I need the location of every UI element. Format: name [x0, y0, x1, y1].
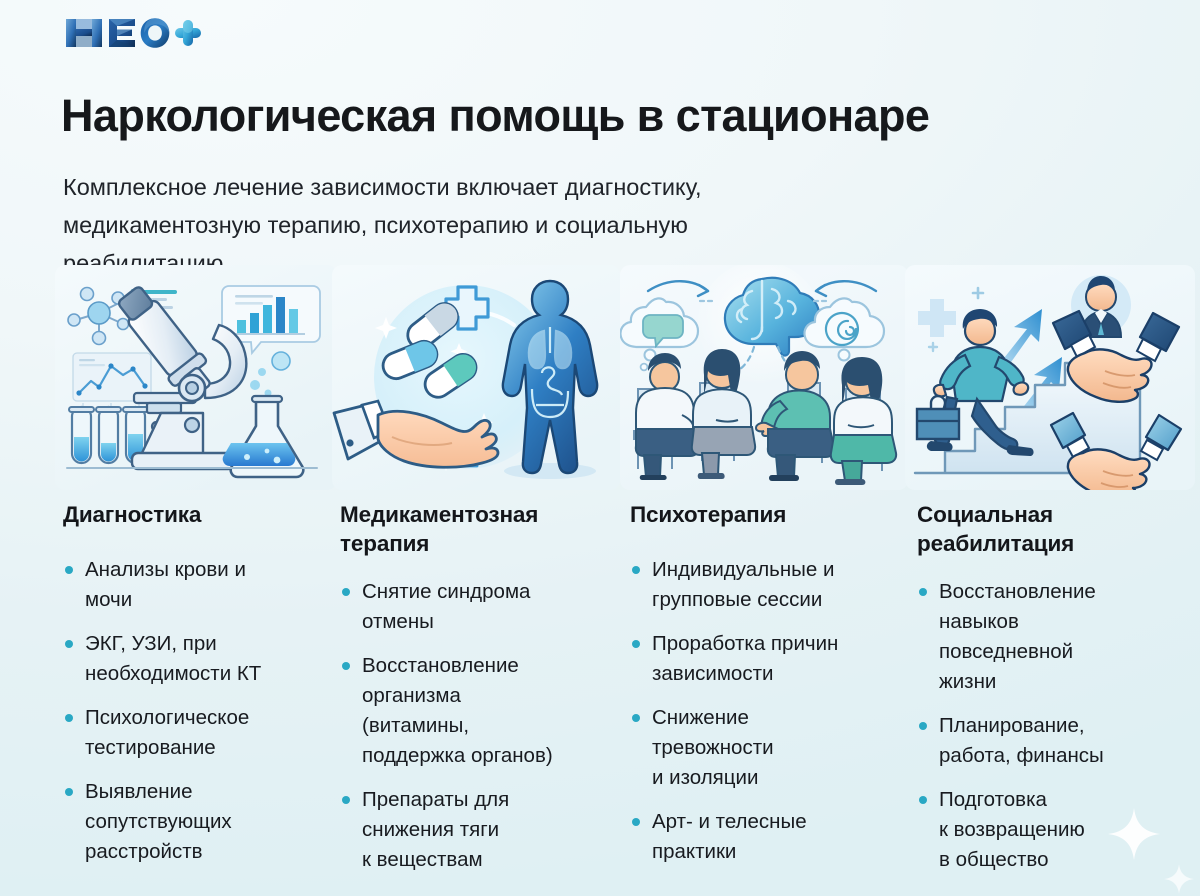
- list-item: Восстановление организма (витамины, подд…: [340, 651, 620, 771]
- list-item: Снижение тревожности и изоляции: [630, 703, 908, 793]
- list-item: Анализы крови и мочи: [63, 555, 337, 615]
- bullet-line: Планирование,: [939, 711, 1195, 741]
- heading-line: Медикаментозная: [340, 500, 620, 529]
- bullet-list-social-rehabilitation: Восстановление навыков повседневной жизн…: [905, 577, 1195, 875]
- bullet-line: Арт- и телесные: [652, 807, 908, 837]
- bullet-line: отмены: [362, 607, 620, 637]
- bullet-line: в общество: [939, 845, 1195, 875]
- bullet-line: Препараты для: [362, 785, 620, 815]
- bullet-line: Проработка причин: [652, 629, 908, 659]
- group-therapy-icon: [620, 265, 908, 490]
- list-item: Выявление сопутствующих расстройств: [63, 777, 337, 867]
- list-item: Снятие синдрома отмены: [340, 577, 620, 637]
- column-heading-psychotherapy: Психотерапия: [620, 500, 908, 529]
- list-item: Арт- и телесные практики: [630, 807, 908, 867]
- heading-line: терапия: [340, 529, 620, 558]
- bullet-line: расстройств: [85, 837, 337, 867]
- column-medication-therapy: Медикаментозная терапия Снятие синдрома …: [332, 265, 620, 889]
- bullet-line: организма: [362, 681, 620, 711]
- column-psychotherapy: Психотерапия Индивидуальные и групповые …: [620, 265, 908, 881]
- microscope-lab-icon: [55, 265, 337, 490]
- bullet-line: Подготовка: [939, 785, 1195, 815]
- bullet-line: Восстановление: [939, 577, 1195, 607]
- bullet-line: поддержка органов): [362, 741, 620, 771]
- bullet-line: ЭКГ, УЗИ, при: [85, 629, 337, 659]
- bullet-line: Выявление: [85, 777, 337, 807]
- infographic-page: Наркологическая помощь в стационаре Комп…: [0, 0, 1200, 896]
- bullet-line: снижения тяги: [362, 815, 620, 845]
- bullet-line: (витамины,: [362, 711, 620, 741]
- bullet-line: повседневной: [939, 637, 1195, 667]
- bullet-line: Восстановление: [362, 651, 620, 681]
- column-heading-social-rehabilitation: Социальная реабилитация: [905, 500, 1195, 558]
- heading-line: реабилитация: [917, 529, 1195, 558]
- bullet-line: Снятие синдрома: [362, 577, 620, 607]
- bullet-line: Анализы крови и: [85, 555, 337, 585]
- bullet-line: к возвращению: [939, 815, 1195, 845]
- list-item: Подготовка к возвращению в общество: [917, 785, 1195, 875]
- list-item: Проработка причин зависимости: [630, 629, 908, 689]
- bullet-line: жизни: [939, 667, 1195, 697]
- bullet-line: тестирование: [85, 733, 337, 763]
- subtitle-line: медикаментозную терапию, психотерапию и …: [63, 206, 943, 244]
- column-diagnostics: Диагностика Анализы крови и мочи ЭКГ, УЗ…: [55, 265, 337, 881]
- bullet-line: практики: [652, 837, 908, 867]
- bullet-line: и изоляции: [652, 763, 908, 793]
- heading-line: Диагностика: [63, 500, 337, 529]
- bullet-line: необходимости КТ: [85, 659, 337, 689]
- bullet-line: групповые сессии: [652, 585, 908, 615]
- bullet-line: тревожности: [652, 733, 908, 763]
- pills-in-hand-icon: [332, 265, 620, 490]
- column-heading-medication-therapy: Медикаментозная терапия: [332, 500, 620, 558]
- list-item: ЭКГ, УЗИ, при необходимости КТ: [63, 629, 337, 689]
- list-item: Восстановление навыков повседневной жизн…: [917, 577, 1195, 697]
- bullet-list-diagnostics: Анализы крови и мочи ЭКГ, УЗИ, при необх…: [55, 555, 337, 867]
- bullet-line: Индивидуальные и: [652, 555, 908, 585]
- bullet-line: сопутствующих: [85, 807, 337, 837]
- list-item: Индивидуальные и групповые сессии: [630, 555, 908, 615]
- bullet-line: мочи: [85, 585, 337, 615]
- bullet-line: зависимости: [652, 659, 908, 689]
- column-heading-diagnostics: Диагностика: [55, 500, 337, 529]
- bullet-line: работа, финансы: [939, 741, 1195, 771]
- column-social-rehabilitation: Социальная реабилитация Восстановление н…: [905, 265, 1195, 889]
- list-item: Психологическое тестирование: [63, 703, 337, 763]
- list-item: Планирование, работа, финансы: [917, 711, 1195, 771]
- bullet-line: Снижение: [652, 703, 908, 733]
- heading-line: Психотерапия: [630, 500, 908, 529]
- bullet-list-psychotherapy: Индивидуальные и групповые сессии Прораб…: [620, 555, 908, 867]
- bullet-list-medication-therapy: Снятие синдрома отмены Восстановление ор…: [332, 577, 620, 875]
- bullet-line: навыков: [939, 607, 1195, 637]
- bullet-line: Психологическое: [85, 703, 337, 733]
- bullet-line: к веществам: [362, 845, 620, 875]
- career-handshake-icon: [905, 265, 1195, 490]
- heading-line: Социальная: [917, 500, 1195, 529]
- list-item: Препараты для снижения тяги к веществам: [340, 785, 620, 875]
- page-title: Наркологическая помощь в стационаре: [61, 89, 1161, 143]
- subtitle-line: Комплексное лечение зависимости включает…: [63, 168, 943, 206]
- neo-plus-logo: [63, 13, 203, 53]
